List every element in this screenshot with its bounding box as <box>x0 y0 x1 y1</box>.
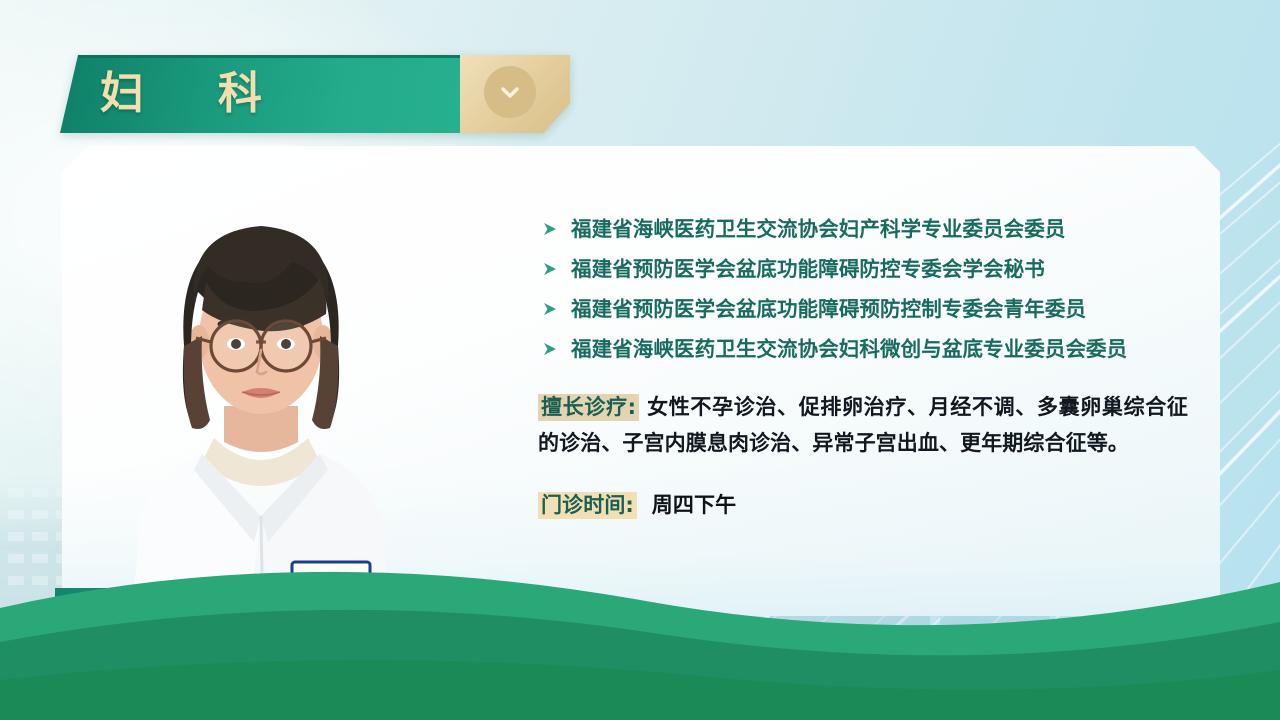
list-item: 福建省预防医学会盆底功能障碍防控专委会学会秘书 <box>538 254 1188 285</box>
poster-root: 妇 科 福建省海峡医药卫生交流协会妇产科学专业委员会委员 福建 <box>0 0 1280 720</box>
department-banner: 妇 科 <box>60 55 570 133</box>
doctor-portrait <box>96 170 426 640</box>
credential-text: 福建省海峡医药卫生交流协会妇科微创与盆底专业委员会委员 <box>571 337 1127 361</box>
clinic-time-label: 门诊时间: <box>538 492 637 519</box>
arrow-bullet-icon <box>540 299 560 319</box>
department-title: 妇 科 <box>100 72 277 116</box>
arrow-bullet-icon <box>540 259 560 279</box>
chevron-down-icon[interactable] <box>484 66 536 118</box>
clinic-time-block: 门诊时间: 周四下午 <box>538 487 1188 523</box>
clinic-time-paragraph: 门诊时间: 周四下午 <box>538 487 1188 523</box>
doctor-details: 福建省海峡医药卫生交流协会妇产科学专业委员会委员 福建省预防医学会盆底功能障碍防… <box>538 214 1188 523</box>
specialty-label: 擅长诊疗: <box>538 394 639 421</box>
arrow-bullet-icon <box>540 219 560 239</box>
credential-text: 福建省预防医学会盆底功能障碍防控专委会学会秘书 <box>571 257 1045 281</box>
list-item: 福建省预防医学会盆底功能障碍预防控制专委会青年委员 <box>538 294 1188 325</box>
list-item: 福建省海峡医药卫生交流协会妇产科学专业委员会委员 <box>538 214 1188 245</box>
nameplate-divider <box>221 599 223 639</box>
department-banner-gold[interactable] <box>460 55 570 133</box>
doctor-nameplate: 吴新枝 主治医师 <box>55 588 495 650</box>
credential-text: 福建省海峡医药卫生交流协会妇产科学专业委员会委员 <box>571 217 1065 241</box>
list-item: 福建省海峡医药卫生交流协会妇科微创与盆底专业委员会委员 <box>538 334 1188 365</box>
clinic-time-value: 周四下午 <box>652 493 736 517</box>
credentials-list: 福建省海峡医药卫生交流协会妇产科学专业委员会委员 福建省预防医学会盆底功能障碍防… <box>538 214 1188 365</box>
doctor-name: 吴新枝 <box>87 601 202 638</box>
specialty-paragraph: 擅长诊疗: 女性不孕诊治、促排卵治疗、月经不调、多囊卵巢综合征的诊治、子宫内膜息… <box>538 389 1188 461</box>
credential-text: 福建省预防医学会盆底功能障碍预防控制专委会青年委员 <box>571 297 1086 321</box>
department-banner-green: 妇 科 <box>60 55 460 133</box>
doctor-rank: 主治医师 <box>242 604 366 634</box>
arrow-bullet-icon <box>540 339 560 359</box>
specialty-block: 擅长诊疗: 女性不孕诊治、促排卵治疗、月经不调、多囊卵巢综合征的诊治、子宫内膜息… <box>538 389 1188 461</box>
